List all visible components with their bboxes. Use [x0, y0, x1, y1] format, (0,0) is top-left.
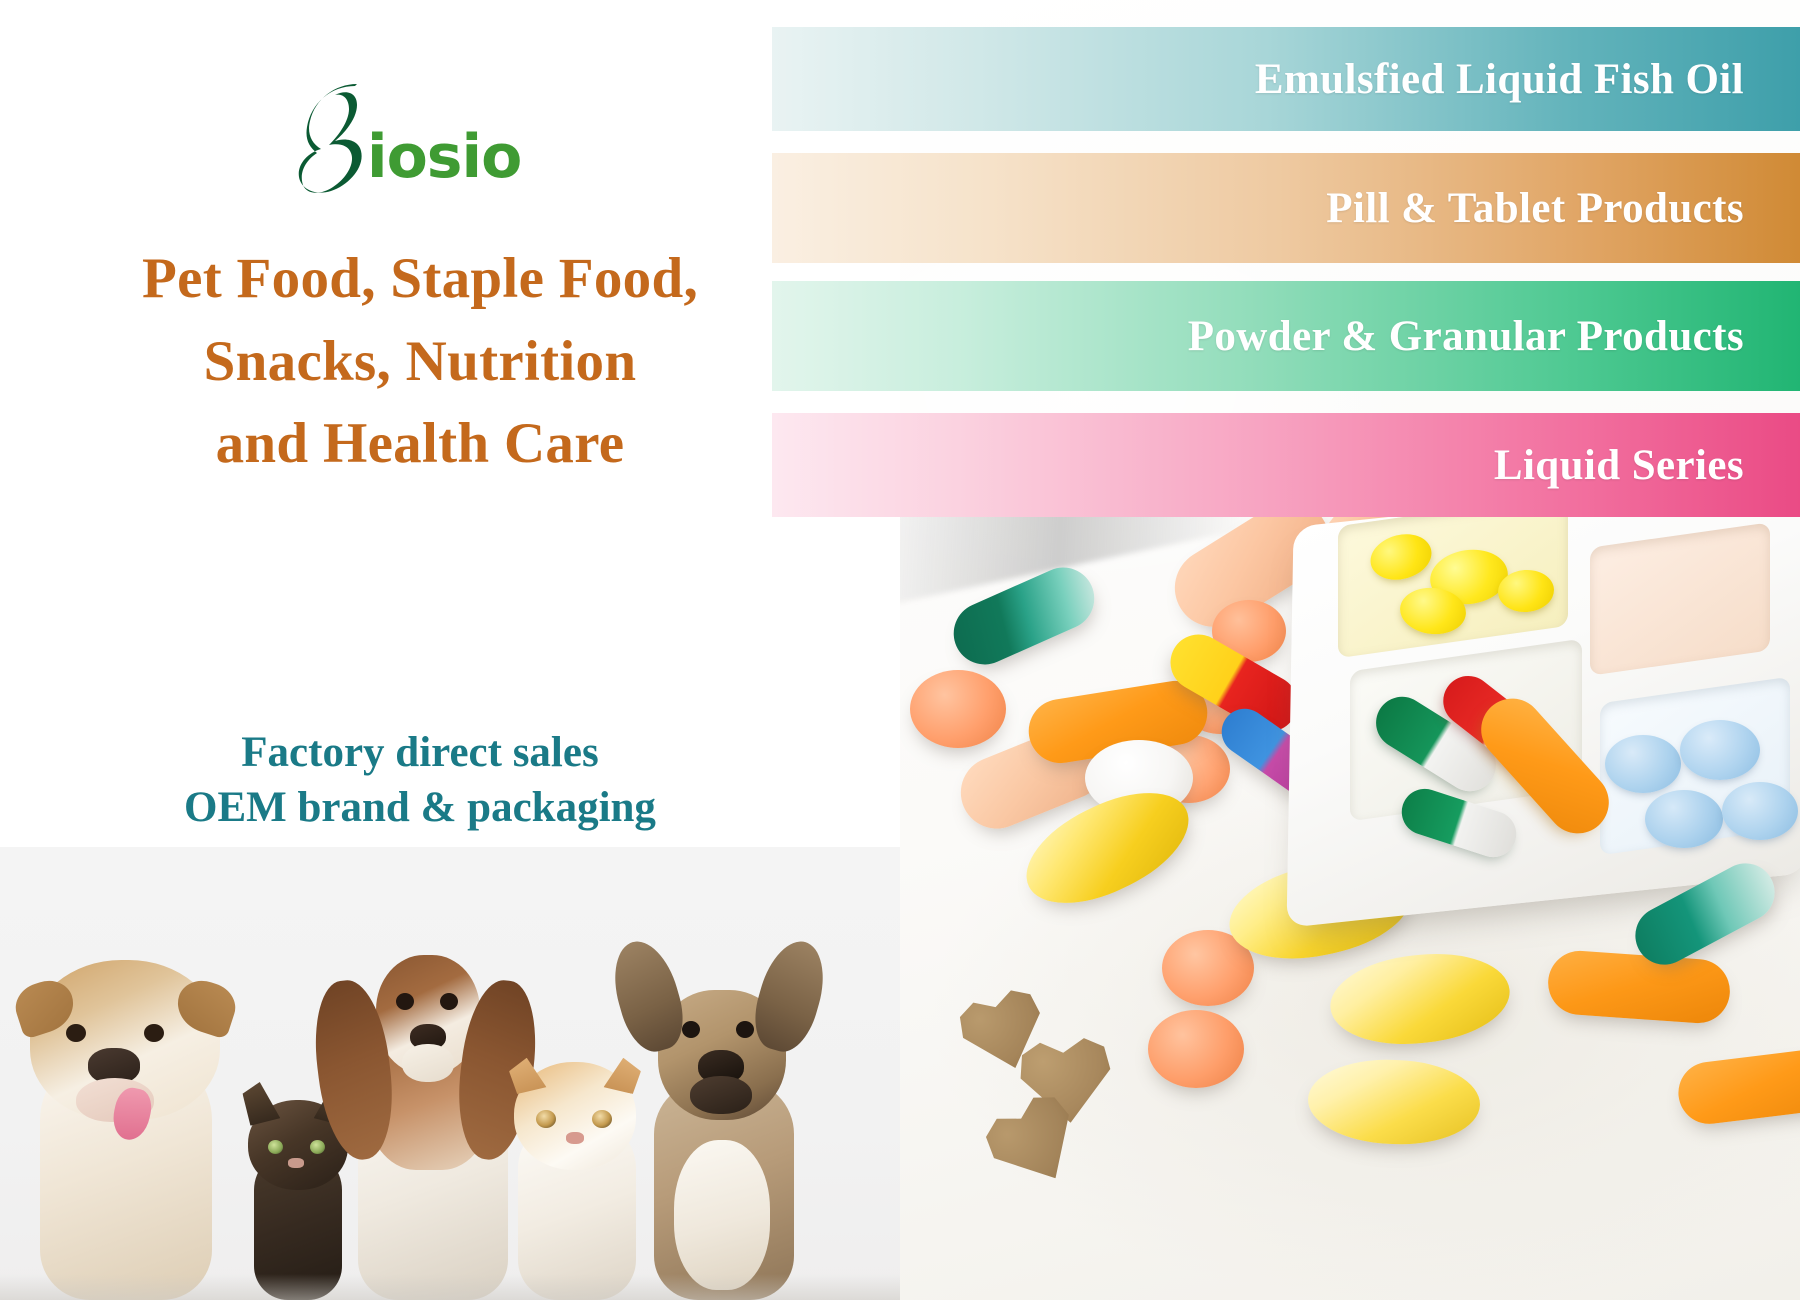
tagline: Factory direct sales OEM brand & packagi… [40, 725, 800, 835]
caplet-orange-be-3 [1546, 949, 1732, 1026]
logo-b-mark-icon [295, 83, 373, 195]
category-label: Liquid Series [1494, 441, 1744, 490]
headline-line-1: Pet Food, Staple Food, [40, 238, 800, 321]
tablet-blue-2 [1680, 720, 1760, 780]
tablet-orange-round-6 [1148, 1010, 1244, 1088]
headline-line-2: Snacks, Nutrition [40, 321, 800, 404]
promo-banner: iosio Pet Food, Staple Food, Snacks, Nut… [0, 0, 1800, 1300]
brand-logo[interactable]: iosio [295, 85, 521, 195]
category-bar-pill-tablet-products[interactable]: Pill & Tablet Products [772, 153, 1800, 263]
pet-french-bulldog [624, 905, 814, 1300]
category-label: Emulsfied Liquid Fish Oil [1255, 55, 1744, 104]
page-title: Pet Food, Staple Food, Snacks, Nutrition… [40, 238, 800, 486]
category-label: Pill & Tablet Products [1326, 184, 1744, 233]
tablet-orange-round-4 [910, 670, 1006, 748]
headline-line-3: and Health Care [40, 403, 800, 486]
pet-english-bulldog [18, 900, 233, 1300]
category-label: Powder & Granular Products [1188, 312, 1744, 361]
category-bar-powder-granular-products[interactable]: Powder & Granular Products [772, 281, 1800, 391]
logo-wordmark: iosio [367, 127, 521, 187]
organizer-compartment-peach [1590, 522, 1770, 675]
category-bar-liquid-series[interactable]: Liquid Series [772, 413, 1800, 517]
pets-ground-shadow [0, 1274, 900, 1300]
tablet-blue-1 [1605, 735, 1681, 793]
pets-photo [0, 847, 900, 1300]
category-bar-emulsfied-liquid-fish-oil[interactable]: Emulsfied Liquid Fish Oil [772, 27, 1800, 131]
left-content-panel: iosio Pet Food, Staple Food, Snacks, Nut… [0, 0, 900, 850]
tagline-line-2: OEM brand & packaging [40, 780, 800, 835]
tablet-blue-4 [1722, 782, 1798, 840]
tagline-line-1: Factory direct sales [40, 725, 800, 780]
tablet-blue-3 [1645, 790, 1723, 848]
